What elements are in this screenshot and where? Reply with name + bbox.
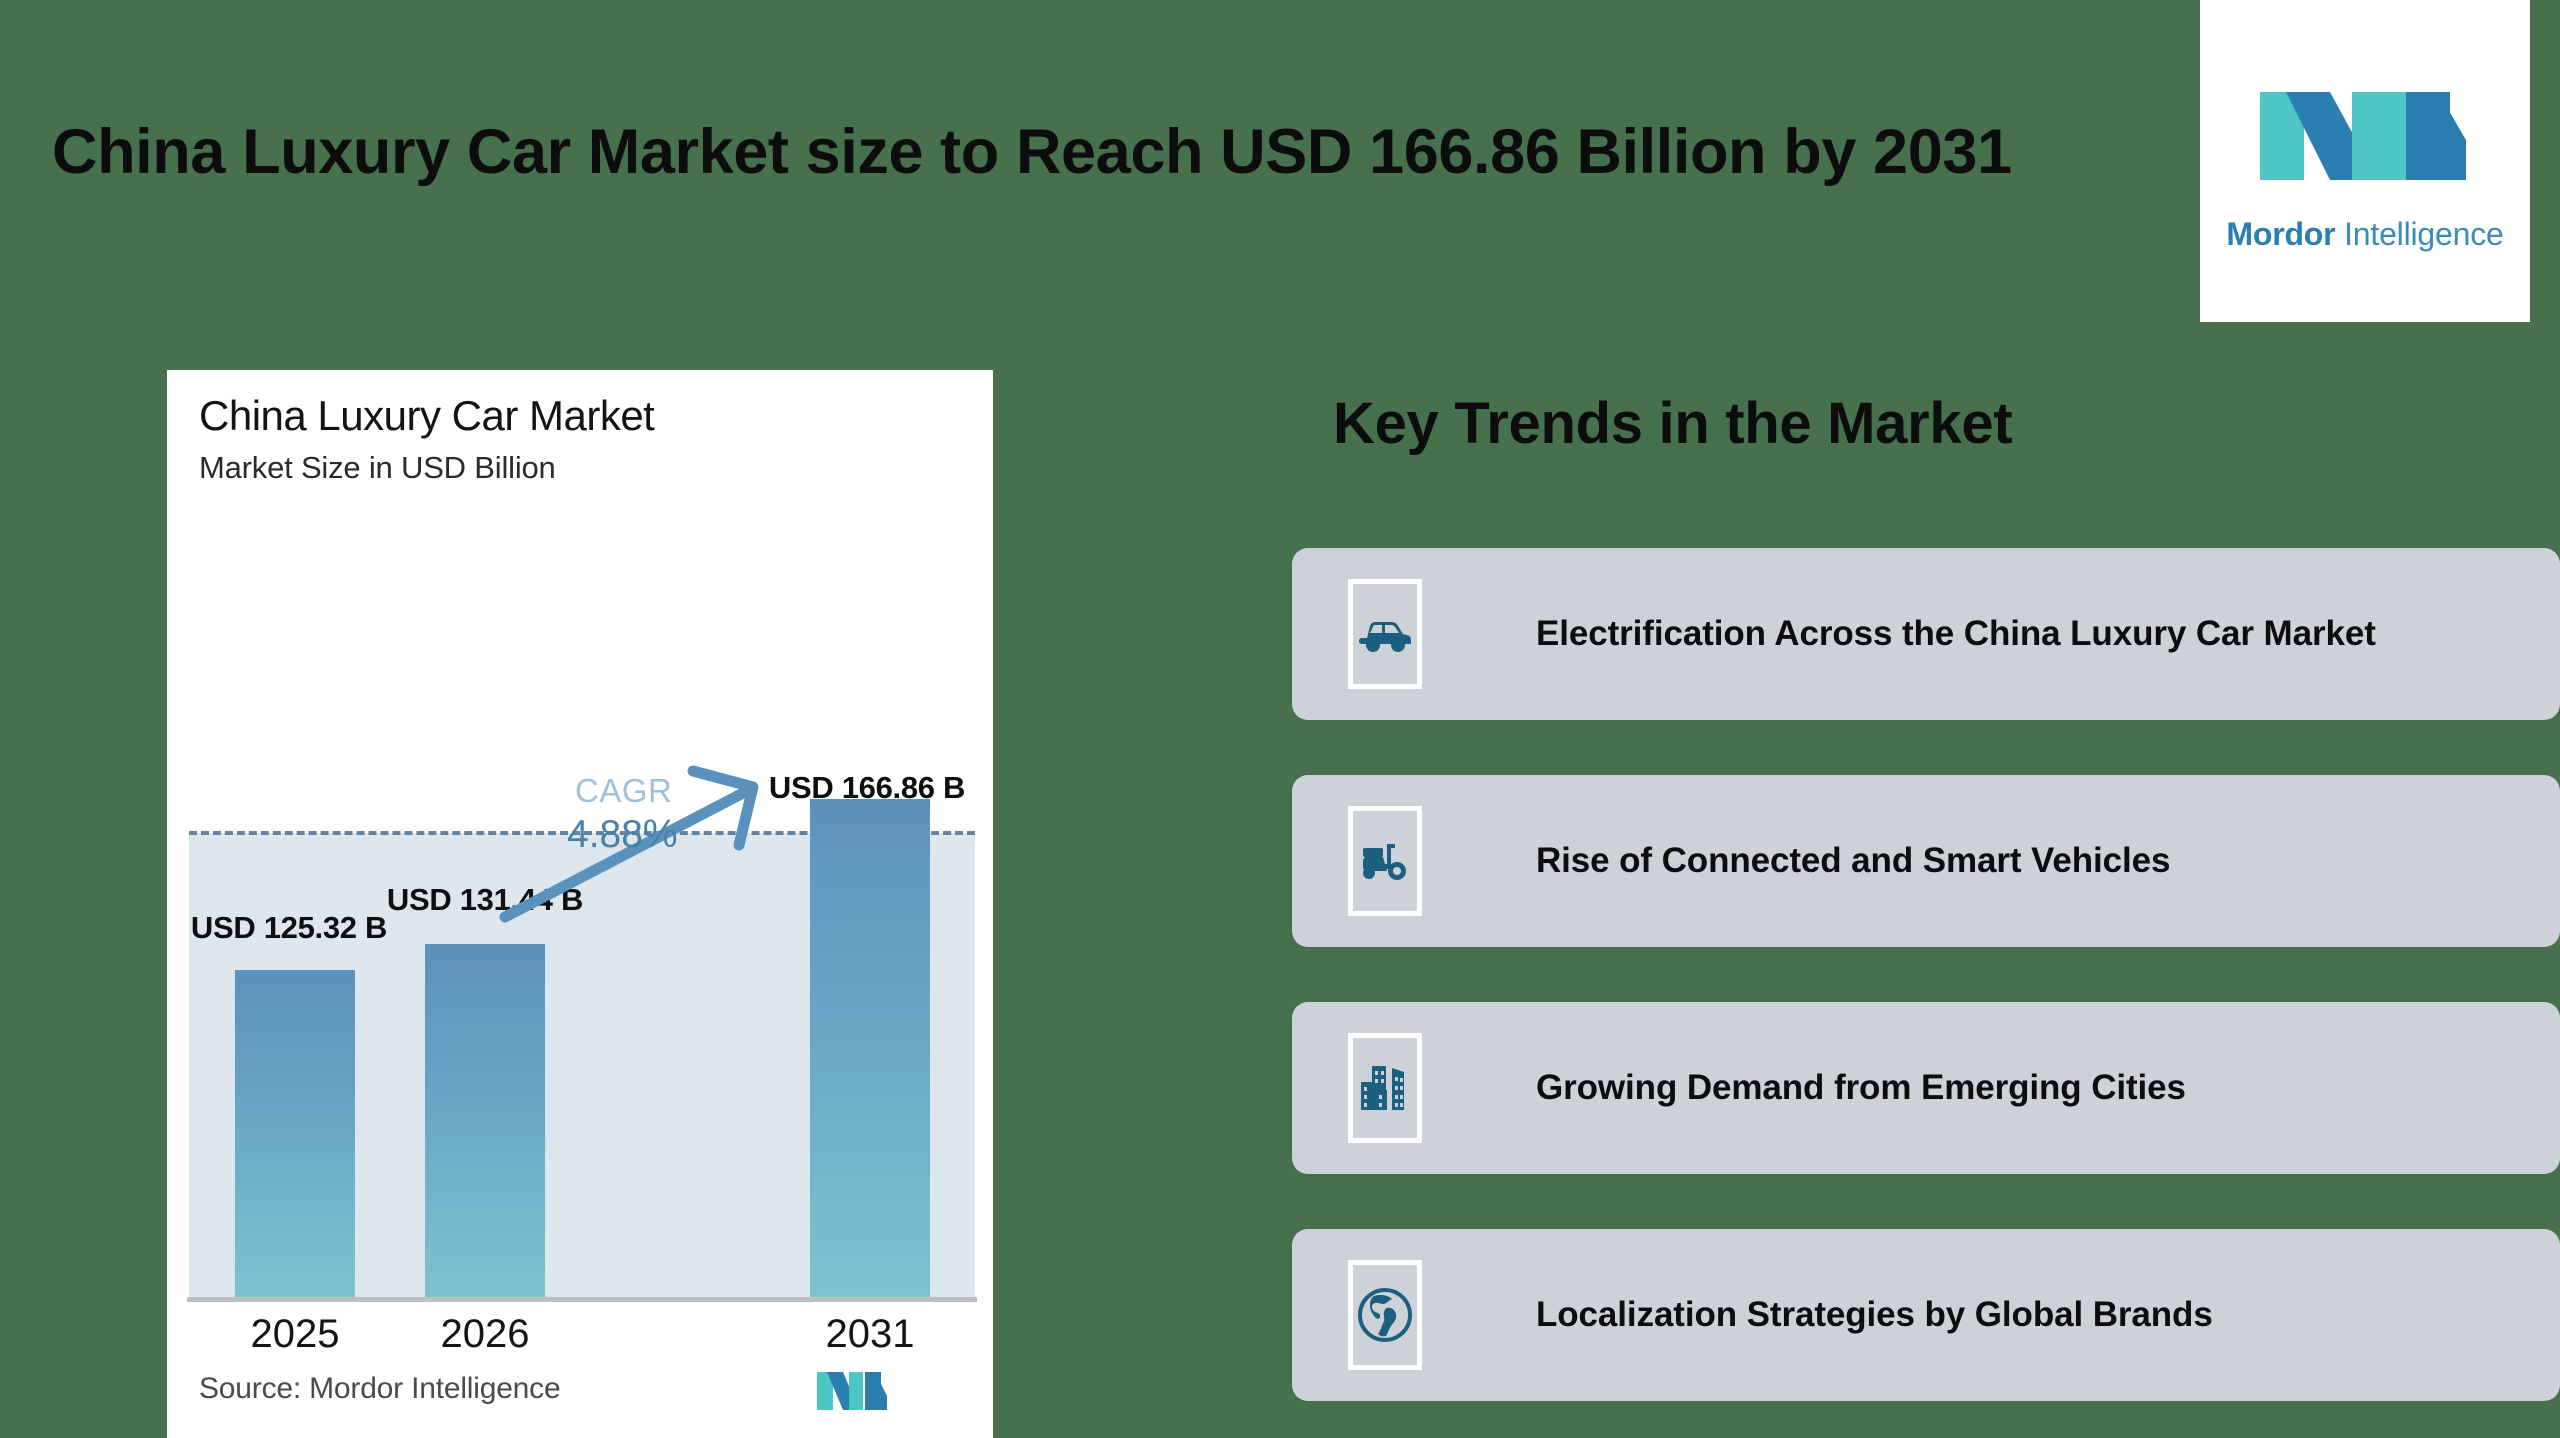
- cagr-label: CAGR: [575, 772, 672, 810]
- trend-label: Rise of Connected and Smart Vehicles: [1536, 841, 2170, 881]
- bar-2025: [235, 970, 355, 1297]
- bar-2026: [425, 944, 545, 1297]
- page-headline: China Luxury Car Market size to Reach US…: [52, 118, 2152, 187]
- bar-value-label-2031: USD 166.86 B: [769, 770, 965, 806]
- bar-chart-plot: USD 125.32 B USD 131.44 B USD 166.86 B C…: [167, 370, 993, 1438]
- x-tick-2025: 2025: [251, 1312, 340, 1357]
- brand-name-bold: Mordor: [2226, 216, 2335, 252]
- cagr-value: 4.88%: [567, 813, 678, 857]
- trend-label: Electrification Across the China Luxury …: [1536, 614, 2376, 654]
- chart-source-text: Source: Mordor Intelligence: [199, 1372, 560, 1406]
- mordor-m-logo-icon: [2256, 70, 2474, 202]
- trend-card-emerging-cities[interactable]: Growing Demand from Emerging Cities: [1292, 1002, 2560, 1174]
- globe-icon: [1348, 1260, 1422, 1370]
- brand-logo-wordmark: Mordor Intelligence: [2226, 216, 2503, 253]
- trend-card-electrification[interactable]: Electrification Across the China Luxury …: [1292, 548, 2560, 720]
- bar-value-label-2025: USD 125.32 B: [191, 910, 387, 946]
- brand-logo-card: Mordor Intelligence: [2200, 0, 2530, 322]
- x-tick-2031: 2031: [826, 1312, 915, 1357]
- trend-label: Localization Strategies by Global Brands: [1536, 1295, 2213, 1335]
- chart-card: China Luxury Car Market Market Size in U…: [167, 370, 993, 1438]
- trend-card-localization[interactable]: Localization Strategies by Global Brands: [1292, 1229, 2560, 1401]
- brand-name-light: Intelligence: [2335, 216, 2503, 252]
- buildings-icon: [1348, 1033, 1422, 1143]
- bar-2031: [810, 799, 930, 1297]
- scooter-icon: [1348, 806, 1422, 916]
- car-icon: [1348, 579, 1422, 689]
- x-tick-2026: 2026: [441, 1312, 530, 1357]
- x-axis-line: [187, 1297, 977, 1302]
- trend-card-connected-vehicles[interactable]: Rise of Connected and Smart Vehicles: [1292, 775, 2560, 947]
- trend-label: Growing Demand from Emerging Cities: [1536, 1068, 2186, 1108]
- mordor-m-logo-small-icon: [815, 1368, 891, 1414]
- trends-heading: Key Trends in the Market: [1333, 390, 2012, 457]
